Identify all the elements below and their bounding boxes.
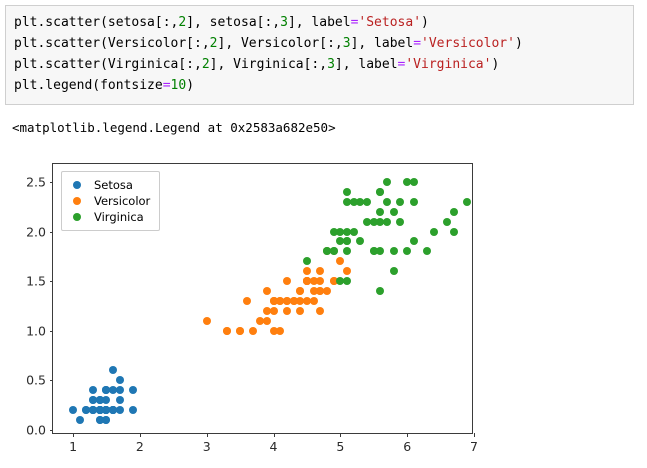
code-operator: = — [163, 78, 171, 93]
scatter-point — [283, 277, 291, 285]
scatter-point — [343, 277, 351, 285]
scatter-point — [109, 386, 117, 394]
legend-label-setosa: Setosa — [94, 178, 133, 192]
scatter-point — [330, 228, 338, 236]
scatter-point — [390, 208, 398, 216]
scatter-point — [263, 317, 271, 325]
y-tick-label: 0.0 — [26, 423, 46, 438]
scatter-point — [223, 327, 231, 335]
scatter-point — [376, 208, 384, 216]
code-operator: = — [413, 36, 421, 51]
scatter-point — [76, 416, 84, 424]
scatter-point — [96, 396, 104, 404]
y-tick-mark — [50, 182, 54, 183]
x-tick-label: 3 — [203, 439, 211, 454]
scatter-point — [403, 247, 411, 255]
y-tick-label: 1.0 — [26, 323, 46, 338]
scatter-point — [276, 327, 284, 335]
y-tick-label: 2.0 — [26, 224, 46, 239]
x-tick-mark — [407, 433, 408, 437]
legend-marker-virginica — [73, 213, 81, 221]
scatter-point — [376, 287, 384, 295]
scatter-point — [310, 287, 318, 295]
scatter-point — [116, 406, 124, 414]
scatter-point — [296, 307, 304, 315]
y-tick-label: 2.5 — [26, 174, 46, 189]
scatter-point — [390, 267, 398, 275]
scatter-point — [89, 386, 97, 394]
scatter-point — [316, 277, 324, 285]
code-string: 'Virginica' — [405, 57, 491, 72]
code-number: 3 — [343, 36, 351, 51]
matplotlib-figure: 1234567 0.00.51.01.52.02.5 Setosa Versic… — [0, 150, 520, 468]
x-tick-label: 5 — [336, 439, 344, 454]
code-number: 3 — [327, 57, 335, 72]
scatter-point — [463, 198, 471, 206]
scatter-point — [283, 307, 291, 315]
code-number: 2 — [178, 15, 186, 30]
scatter-point — [356, 237, 364, 245]
plot-axes: 1234567 0.00.51.01.52.02.5 Setosa Versic… — [52, 163, 473, 434]
scatter-point — [383, 178, 391, 186]
scatter-point — [323, 247, 331, 255]
code-string: 'Versicolor' — [421, 36, 515, 51]
scatter-point — [410, 178, 418, 186]
scatter-point — [263, 287, 271, 295]
scatter-point — [343, 237, 351, 245]
scatter-point — [303, 267, 311, 275]
code-line-2: plt.scatter(Versicolor[:,2], Versicolor[… — [14, 33, 625, 54]
scatter-point — [450, 228, 458, 236]
scatter-point — [316, 267, 324, 275]
code-input-cell[interactable]: plt.scatter(setosa[:,2], setosa[:,3], la… — [5, 5, 634, 105]
scatter-point — [430, 228, 438, 236]
scatter-point — [310, 297, 318, 305]
legend-marker-versicolor — [73, 197, 81, 205]
code-string: 'Setosa' — [358, 15, 421, 30]
scatter-point — [270, 307, 278, 315]
scatter-point — [109, 406, 117, 414]
scatter-point — [323, 287, 331, 295]
scatter-point — [350, 228, 358, 236]
x-tick-mark — [474, 433, 475, 437]
scatter-point — [116, 376, 124, 384]
scatter-point — [129, 386, 137, 394]
y-tick-mark — [50, 430, 54, 431]
scatter-point — [290, 297, 298, 305]
scatter-point — [129, 406, 137, 414]
scatter-point — [69, 406, 77, 414]
legend-item-virginica: Virginica — [69, 209, 150, 225]
scatter-point — [396, 198, 404, 206]
scatter-point — [116, 396, 124, 404]
code-line-4: plt.legend(fontsize=10) — [14, 75, 625, 96]
scatter-point — [410, 198, 418, 206]
scatter-point — [443, 218, 451, 226]
scatter-point — [249, 327, 257, 335]
scatter-point — [316, 307, 324, 315]
legend-item-versicolor: Versicolor — [69, 193, 150, 209]
scatter-point — [243, 297, 251, 305]
scatter-point — [396, 218, 404, 226]
scatter-point — [96, 406, 104, 414]
scatter-point — [410, 237, 418, 245]
x-tick-label: 2 — [136, 439, 144, 454]
x-tick-mark — [207, 433, 208, 437]
x-tick-mark — [340, 433, 341, 437]
code-line-3: plt.scatter(Virginica[:,2], Virginica[:,… — [14, 54, 625, 75]
y-tick-mark — [50, 380, 54, 381]
scatter-point — [390, 247, 398, 255]
legend-marker-setosa — [73, 181, 81, 189]
scatter-point — [236, 327, 244, 335]
scatter-point — [450, 208, 458, 216]
x-tick-mark — [73, 433, 74, 437]
scatter-point — [102, 386, 110, 394]
scatter-point — [376, 188, 384, 196]
legend-item-setosa: Setosa — [69, 177, 150, 193]
scatter-point — [303, 257, 311, 265]
code-number: 3 — [280, 15, 288, 30]
scatter-point — [363, 218, 371, 226]
y-tick-mark — [50, 331, 54, 332]
legend-label-virginica: Virginica — [94, 210, 144, 224]
cell-text-output: <matplotlib.legend.Legend at 0x2583a682e… — [12, 120, 336, 136]
notebook-output-view: plt.scatter(setosa[:,2], setosa[:,3], la… — [0, 0, 647, 468]
x-tick-mark — [274, 433, 275, 437]
scatter-point — [203, 317, 211, 325]
y-tick-mark — [50, 281, 54, 282]
scatter-point — [383, 198, 391, 206]
y-tick-mark — [50, 232, 54, 233]
scatter-point — [343, 247, 351, 255]
y-tick-label: 1.5 — [26, 274, 46, 289]
scatter-point — [336, 257, 344, 265]
y-tick-label: 0.5 — [26, 373, 46, 388]
scatter-point — [276, 297, 284, 305]
x-tick-label: 4 — [270, 439, 278, 454]
scatter-point — [303, 277, 311, 285]
code-number: 10 — [171, 78, 187, 93]
scatter-point — [96, 416, 104, 424]
scatter-point — [343, 188, 351, 196]
scatter-point — [350, 198, 358, 206]
code-number: 2 — [202, 57, 210, 72]
x-tick-label: 6 — [403, 439, 411, 454]
scatter-point — [296, 287, 304, 295]
scatter-point — [423, 247, 431, 255]
scatter-point — [256, 317, 264, 325]
scatter-point — [383, 218, 391, 226]
legend-label-versicolor: Versicolor — [94, 194, 150, 208]
scatter-point — [343, 267, 351, 275]
x-tick-mark — [140, 433, 141, 437]
code-number: 2 — [210, 36, 218, 51]
scatter-point — [116, 386, 124, 394]
scatter-point — [109, 366, 117, 374]
plot-legend: Setosa Versicolor Virginica — [61, 171, 160, 231]
x-tick-label: 1 — [69, 439, 77, 454]
code-line-1: plt.scatter(setosa[:,2], setosa[:,3], la… — [14, 12, 625, 33]
scatter-point — [336, 237, 344, 245]
scatter-point — [363, 198, 371, 206]
x-tick-label: 7 — [470, 439, 478, 454]
